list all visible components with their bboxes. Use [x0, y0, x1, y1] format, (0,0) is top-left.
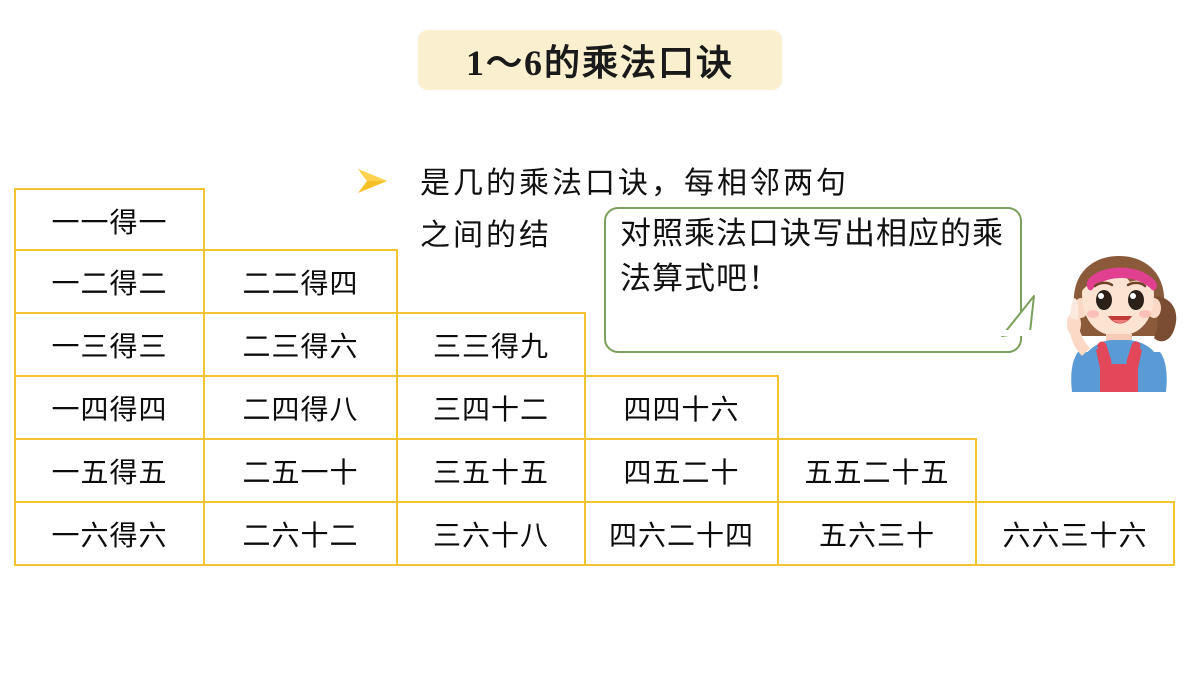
table-cell: 二六十二 — [203, 501, 398, 566]
table-cell: 一六得六 — [14, 501, 205, 566]
table-cell: 二四得八 — [203, 375, 398, 440]
table-cell: 二五一十 — [203, 438, 398, 503]
table-cell: 五六三十 — [777, 501, 977, 566]
page-title: 1～6的乘法口诀 — [466, 34, 734, 86]
title-banner: 1～6的乘法口诀 — [418, 30, 782, 90]
table-cell: 五五二十五 — [777, 438, 977, 503]
table-row: 一四得四二四得八三四十二四四十六 — [14, 375, 777, 440]
table-row: 一三得三二三得六三三得九 — [14, 312, 584, 377]
table-row: 一五得五二五一十三五十五四五二十五五二十五 — [14, 438, 975, 503]
table-cell: 一五得五 — [14, 438, 205, 503]
table-cell: 二二得四 — [203, 249, 398, 314]
table-cell: 一一得一 — [14, 188, 205, 253]
table-cell: 三四十二 — [396, 375, 586, 440]
table-cell: 四五二十 — [584, 438, 779, 503]
table-cell: 二三得六 — [203, 312, 398, 377]
table-cell: 三五十五 — [396, 438, 586, 503]
girl-illustration — [1044, 252, 1194, 392]
table-row: 一六得六二六十二三六十八四六二十四五六三十六六三十六 — [14, 501, 1173, 566]
table-cell: 一三得三 — [14, 312, 205, 377]
table-cell: 四四十六 — [584, 375, 779, 440]
table-cell: 三六十八 — [396, 501, 586, 566]
table-cell: 四六二十四 — [584, 501, 779, 566]
speech-tail-icon — [1000, 288, 1060, 358]
table-cell: 一二得二 — [14, 249, 205, 314]
table-cell: 六六三十六 — [975, 501, 1175, 566]
speech-bubble-text: 对照乘法口诀写出相应的乘法算式吧！ — [620, 211, 1006, 301]
speech-bubble: 对照乘法口诀写出相应的乘法算式吧！ — [604, 207, 1022, 353]
table-cell: 一四得四 — [14, 375, 205, 440]
table-cell: 三三得九 — [396, 312, 586, 377]
table-row: 一二得二二二得四 — [14, 249, 396, 314]
table-row: 一一得一 — [14, 188, 203, 253]
